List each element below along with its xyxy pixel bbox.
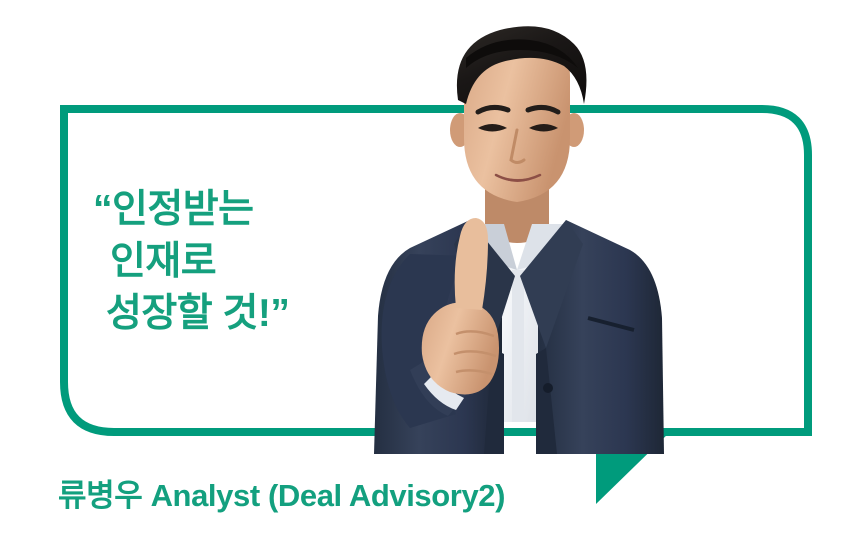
- person-photo: [352, 18, 682, 454]
- quote-line-3: 성장할 것!”: [93, 294, 289, 346]
- quote-text: “인정받는 인재로 성장할 것!”: [93, 190, 289, 346]
- person-illustration: [352, 18, 682, 454]
- jacket-button: [543, 383, 553, 393]
- shirt-placket: [512, 270, 524, 422]
- quote-line-1: “인정받는: [93, 190, 289, 242]
- person-caption: 류병우 Analyst (Deal Advisory2): [58, 470, 505, 515]
- promo-card: “인정받는 인재로 성장할 것!”: [0, 0, 847, 544]
- quote-line-2: 인재로: [93, 242, 289, 294]
